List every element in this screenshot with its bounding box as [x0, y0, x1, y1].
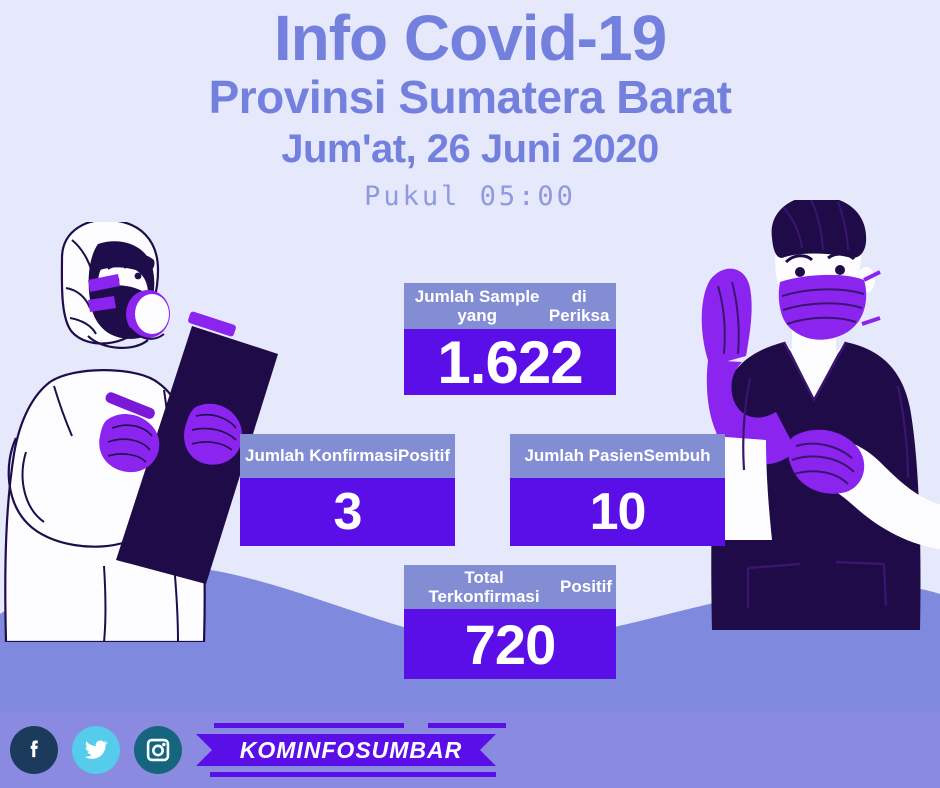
caption-line-1: Jumlah Konfirmasi — [245, 446, 398, 465]
stat-card-pasien-sembuh: Jumlah Pasien Sembuh 10 — [510, 434, 725, 546]
stat-card-value: 1.622 — [404, 329, 616, 395]
header: Info Covid-19 Provinsi Sumatera Barat Ju… — [0, 0, 940, 212]
stat-card-sample: Jumlah Sample yang di Periksa 1.622 — [404, 283, 616, 395]
stat-card-caption: Jumlah Konfirmasi Positif — [240, 434, 455, 478]
caption-line-2: Sembuh — [644, 446, 711, 465]
facebook-icon[interactable] — [10, 726, 58, 774]
stat-card-value: 720 — [404, 609, 616, 679]
report-date: Jum'at, 26 Juni 2020 — [0, 127, 940, 171]
stat-card-caption: Total Terkonfirmasi Positif — [404, 565, 616, 609]
caption-line-1: Jumlah Sample yang — [408, 287, 546, 325]
instagram-icon[interactable] — [134, 726, 182, 774]
caption-line-2: di Periksa — [546, 287, 612, 325]
stat-card-caption: Jumlah Sample yang di Periksa — [404, 283, 616, 329]
brand-ribbon — [196, 722, 506, 778]
page-title: Info Covid-19 — [0, 6, 940, 71]
illustration-ppe-worker — [0, 222, 302, 642]
stat-card-total-terkonfirmasi: Total Terkonfirmasi Positif 720 — [404, 565, 616, 679]
stat-card-value: 10 — [510, 478, 725, 546]
caption-line-2: Positif — [398, 446, 450, 465]
page-subtitle: Provinsi Sumatera Barat — [0, 73, 940, 123]
stat-card-konfirmasi-positif: Jumlah Konfirmasi Positif 3 — [240, 434, 455, 546]
report-time: Pukul 05:00 — [0, 181, 940, 212]
twitter-icon[interactable] — [72, 726, 120, 774]
caption-line-1: Jumlah Pasien — [524, 446, 643, 465]
caption-line-1: Total Terkonfirmasi — [408, 568, 560, 606]
infographic-canvas: Info Covid-19 Provinsi Sumatera Barat Ju… — [0, 0, 940, 788]
illustration-doctor — [688, 200, 940, 630]
stat-card-value: 3 — [240, 478, 455, 546]
stat-card-caption: Jumlah Pasien Sembuh — [510, 434, 725, 478]
caption-line-2: Positif — [560, 577, 612, 596]
